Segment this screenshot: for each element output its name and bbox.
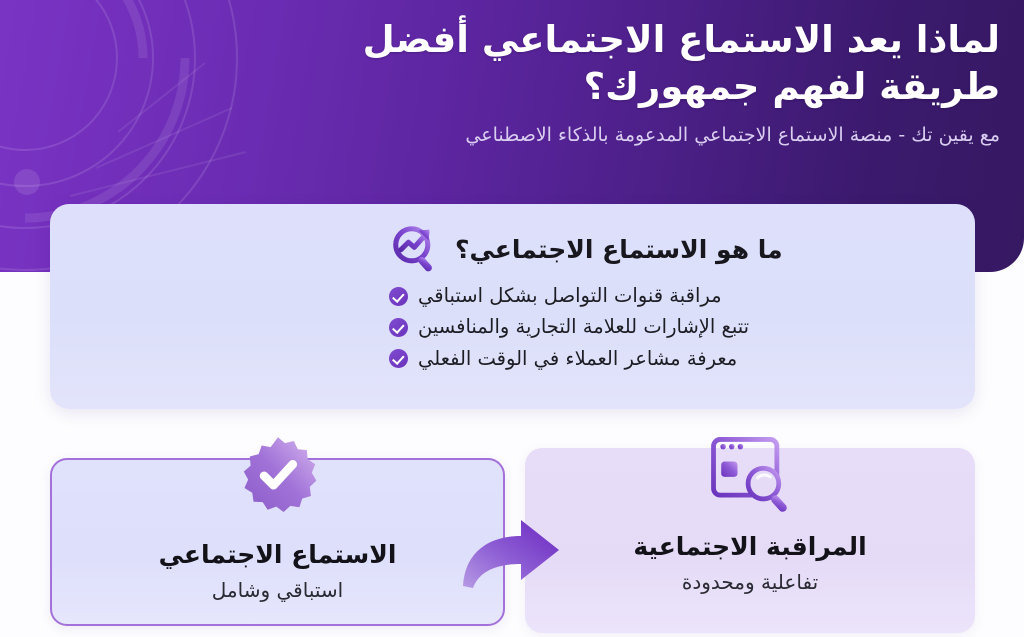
check-circle-icon (389, 349, 408, 368)
check-circle-icon (389, 318, 408, 337)
comparison-card-social-monitoring: المراقبة الاجتماعية تفاعلية ومحدودة (525, 448, 975, 633)
list-item: معرفة مشاعر العملاء في الوقت الفعلي (389, 347, 949, 371)
definition-bullet-list: مراقبة قنوات التواصل بشكل استباقي تتبع ا… (389, 284, 949, 371)
check-circle-icon (389, 287, 408, 306)
comparison-left-text: الاستماع الاجتماعي استباقي وشامل (52, 540, 503, 602)
definition-card: ما هو الاستماع الاجتماعي؟ مراقبة قنوات ا… (50, 204, 975, 409)
definition-title: ما هو الاستماع الاجتماعي؟ (455, 235, 783, 264)
comparison-left-title: الاستماع الاجتماعي (52, 540, 503, 570)
bullet-text: مراقبة قنوات التواصل بشكل استباقي (418, 284, 722, 308)
page-title: لماذا يعد الاستماع الاجتماعي أفضل طريقة … (280, 16, 1000, 111)
comparison-right-text: المراقبة الاجتماعية تفاعلية ومحدودة (525, 532, 975, 594)
comparison-card-social-listening: الاستماع الاجتماعي استباقي وشامل (50, 458, 505, 626)
comparison-right-title: المراقبة الاجتماعية (525, 532, 975, 562)
infographic-canvas: لماذا يعد الاستماع الاجتماعي أفضل طريقة … (0, 0, 1024, 637)
definition-header-row: ما هو الاستماع الاجتماعي؟ (389, 220, 949, 278)
curved-right-arrow-icon (459, 512, 563, 588)
list-item: تتبع الإشارات للعلامة التجارية والمنافسي… (389, 315, 949, 339)
list-item: مراقبة قنوات التواصل بشكل استباقي (389, 284, 949, 308)
browser-search-icon (702, 426, 798, 522)
bullet-text: معرفة مشاعر العملاء في الوقت الفعلي (418, 347, 737, 371)
comparison-right-subtitle: تفاعلية ومحدودة (525, 570, 975, 594)
verified-badge-icon (237, 434, 319, 516)
bullet-text: تتبع الإشارات للعلامة التجارية والمنافسي… (418, 315, 749, 339)
page-subtitle: مع يقين تك - منصة الاستماع الاجتماعي الم… (280, 123, 1000, 149)
comparison-left-subtitle: استباقي وشامل (52, 578, 503, 602)
definition-content: ما هو الاستماع الاجتماعي؟ مراقبة قنوات ا… (389, 220, 949, 378)
header-text-block: لماذا يعد الاستماع الاجتماعي أفضل طريقة … (280, 16, 1000, 148)
search-trend-icon (389, 222, 443, 276)
